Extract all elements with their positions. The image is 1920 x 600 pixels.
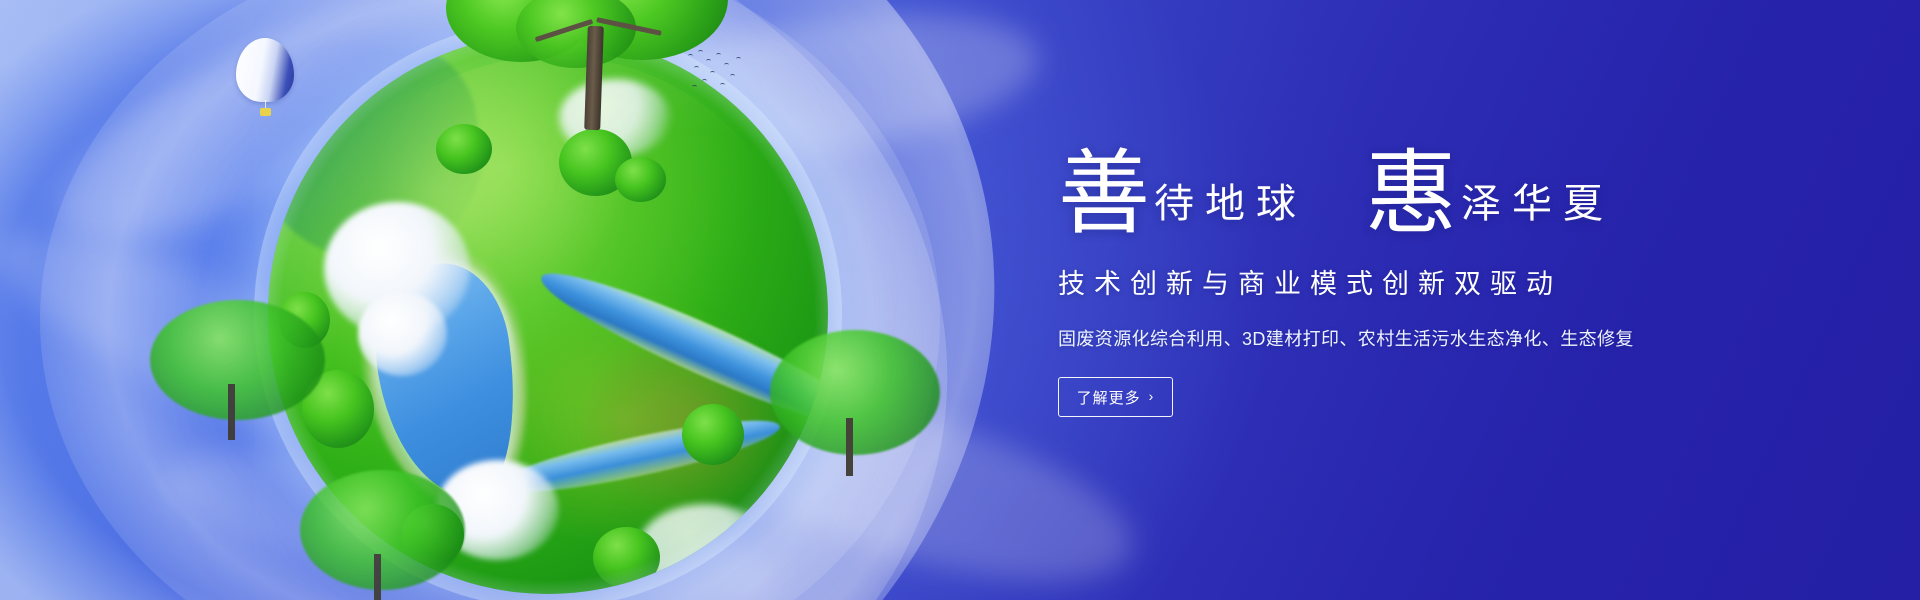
- tree-trunk: [846, 418, 853, 476]
- page-description: 固废资源化综合利用、3D建材打印、农村生活污水生态净化、生态修复: [1058, 325, 1818, 351]
- page-title: 善 待地球 惠 泽华夏: [1058, 140, 1818, 232]
- river-icon: [531, 254, 828, 446]
- tree-icon: [615, 157, 665, 202]
- hero-banner: 善 待地球 惠 泽华夏 技术创新与商业模式创新双驱动 固废资源化综合利用、3D建…: [0, 0, 1920, 600]
- balloon-basket: [260, 108, 271, 116]
- hot-air-balloon-icon: [236, 38, 294, 118]
- tree-icon: [402, 504, 464, 566]
- tree-branch: [596, 17, 662, 36]
- tree-icon: [279, 292, 329, 348]
- bird-flock-icon: [686, 50, 746, 92]
- globe-illustration: [268, 34, 828, 594]
- tree-icon: [436, 124, 492, 174]
- tree-trunk: [228, 384, 235, 440]
- tree-icon: [593, 527, 660, 589]
- hero-content: 善 待地球 惠 泽华夏 技术创新与商业模式创新双驱动 固废资源化综合利用、3D建…: [1058, 140, 1818, 417]
- green-planet-icon: [268, 34, 828, 594]
- chevron-right-icon: ›: [1149, 389, 1155, 403]
- headline-rest-2: 泽华夏: [1461, 184, 1614, 224]
- learn-more-button[interactable]: 了解更多 ›: [1058, 377, 1173, 417]
- headline-char-2: 惠: [1365, 148, 1457, 240]
- tree-icon: [302, 370, 375, 448]
- balloon-envelope: [236, 38, 294, 102]
- learn-more-label: 了解更多: [1077, 387, 1141, 408]
- headline-rest-1: 待地球: [1154, 184, 1307, 224]
- tree-icon: [682, 404, 744, 466]
- page-subtitle: 技术创新与商业模式创新双驱动: [1058, 262, 1818, 301]
- cloud-icon: [358, 292, 448, 376]
- headline-char-1: 善: [1058, 148, 1150, 240]
